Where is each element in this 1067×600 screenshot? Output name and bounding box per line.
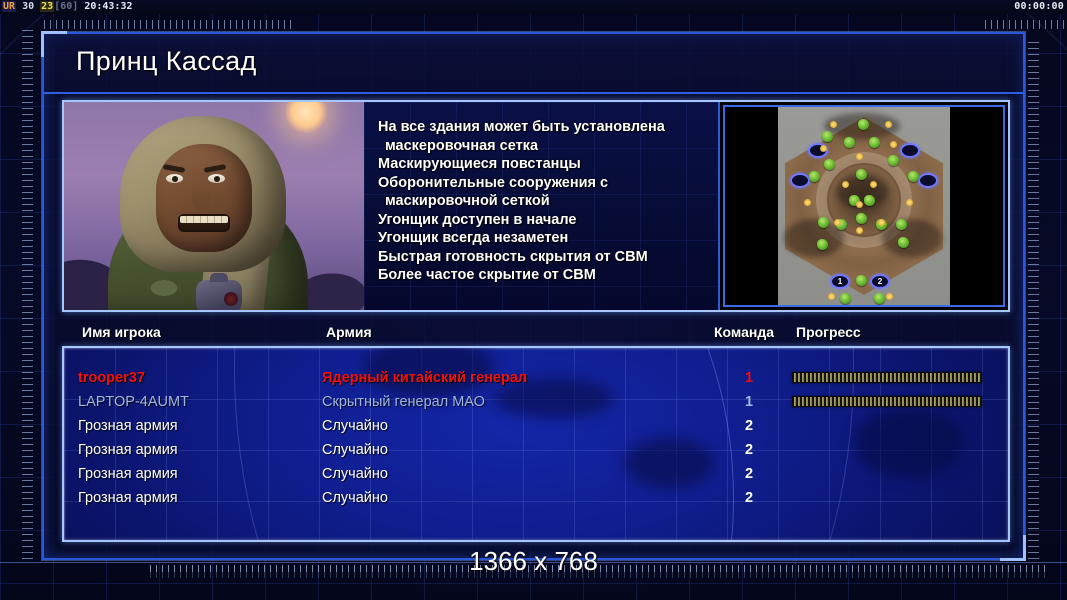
status-fps-bracket: [60] xyxy=(54,1,78,12)
minimap-marker xyxy=(856,201,863,208)
status-label: UR xyxy=(2,1,16,12)
minimap-resource xyxy=(896,219,907,230)
minimap-resource xyxy=(822,131,833,142)
ability-item: Угонщик всегда незаметен xyxy=(378,229,710,248)
cell-player-name: LAPTOP-4AUMT xyxy=(78,390,189,414)
soldier-eye-left xyxy=(166,174,183,183)
table-row[interactable]: Грозная армия Случайно 2 xyxy=(64,486,1008,510)
ability-item: Быстрая готовность скрытия от СВМ xyxy=(378,248,710,267)
minimap-marker xyxy=(906,199,913,206)
general-abilities-panel: На все здания может быть установлена мас… xyxy=(364,102,718,310)
kettle-prop xyxy=(196,280,242,310)
player-table-header: Имя игрока Армия Команда Прогресс xyxy=(68,324,1012,346)
minimap-start-position[interactable] xyxy=(790,173,810,188)
minimap-resource xyxy=(858,119,869,130)
window-content: На все здания может быть установлена мас… xyxy=(56,100,1015,548)
game-screen: UR 30 23[60] 20:43:32 00:00:00 Принц Кас… xyxy=(0,0,1067,600)
cell-player-name: Грозная армия xyxy=(78,462,178,486)
table-row[interactable]: Грозная армия Случайно 2 xyxy=(64,462,1008,486)
minimap-start-position-1[interactable]: 1 xyxy=(830,274,850,289)
cell-army: Ядерный китайский генерал xyxy=(322,366,527,390)
sun-icon xyxy=(284,102,328,134)
minimap-resource xyxy=(864,195,875,206)
minimap-marker xyxy=(842,181,849,188)
cell-army: Случайно xyxy=(322,486,388,510)
table-row[interactable]: trooper37 Ядерный китайский генерал 1 xyxy=(64,366,1008,390)
cell-player-name: trooper37 xyxy=(78,366,145,390)
column-header-team: Команда xyxy=(714,324,774,340)
status-fps: 30 xyxy=(22,1,34,12)
cell-player-name: Грозная армия xyxy=(78,486,178,510)
column-header-progress: Прогресс xyxy=(796,324,861,340)
minimap-start-position[interactable] xyxy=(918,173,938,188)
ability-item: маскировочной сеткой xyxy=(378,192,710,211)
minimap-resource xyxy=(908,171,919,182)
general-portrait xyxy=(64,102,364,310)
ability-item: Угонщик доступен в начале xyxy=(378,211,710,230)
cell-team: 2 xyxy=(735,486,763,510)
cell-team: 2 xyxy=(735,414,763,438)
progress-bar xyxy=(792,396,982,407)
minimap-resource xyxy=(817,239,828,250)
cell-team: 1 xyxy=(735,390,763,414)
minimap-marker xyxy=(804,199,811,206)
briefing-panel: На все здания может быть установлена мас… xyxy=(62,100,1010,312)
ability-item: Более частое скрытие от СВМ xyxy=(378,266,710,285)
ability-item: маскеровочная сетка xyxy=(378,137,710,156)
cell-army: Случайно xyxy=(322,438,388,462)
minimap-resource xyxy=(856,169,867,180)
minimap-shadow xyxy=(882,219,942,257)
minimap-terrain: 1 2 xyxy=(778,107,950,305)
minimap-marker xyxy=(856,153,863,160)
minimap-marker xyxy=(830,121,837,128)
minimap: 1 2 xyxy=(723,105,1005,307)
soldier-brow-left xyxy=(163,164,186,173)
minimap-marker xyxy=(886,293,893,300)
resolution-label: 1366 x 768 xyxy=(0,546,1067,577)
minimap-marker xyxy=(834,219,841,226)
window-titlebar: Принц Кассад xyxy=(44,34,1023,94)
cell-progress xyxy=(792,396,982,407)
minimap-container: 1 2 xyxy=(718,102,1008,310)
minimap-start-position-2[interactable]: 2 xyxy=(870,274,890,289)
ruler-top-right xyxy=(985,20,1065,29)
status-clock: 20:43:32 xyxy=(84,1,132,12)
cell-player-name: Грозная армия xyxy=(78,438,178,462)
cell-team: 1 xyxy=(735,366,763,390)
minimap-marker xyxy=(856,227,863,234)
progress-bar xyxy=(792,372,982,383)
minimap-resource xyxy=(856,275,867,286)
table-row[interactable]: LAPTOP-4AUMT Скрытный генерал МАО 1 xyxy=(64,390,1008,414)
minimap-marker xyxy=(820,145,827,152)
minimap-resource xyxy=(818,217,829,228)
minimap-marker xyxy=(828,293,835,300)
table-row[interactable]: Грозная армия Случайно 2 xyxy=(64,414,1008,438)
soldier-teeth xyxy=(180,216,228,223)
minimap-resource xyxy=(844,137,855,148)
cell-army: Случайно xyxy=(322,414,388,438)
cell-player-name: Грозная армия xyxy=(78,414,178,438)
soldier-nose xyxy=(192,186,210,210)
minimap-resource xyxy=(840,293,851,304)
minimap-resource xyxy=(874,293,885,304)
cell-team: 2 xyxy=(735,462,763,486)
soldier-face xyxy=(156,144,252,252)
cell-army: Скрытный генерал МАО xyxy=(322,390,485,414)
soldier-mouth xyxy=(178,214,230,232)
minimap-marker xyxy=(870,181,877,188)
minimap-resource xyxy=(824,159,835,170)
ability-item: Маскирующиеся повстанцы xyxy=(378,155,710,174)
minimap-resource xyxy=(869,137,880,148)
minimap-start-position[interactable] xyxy=(900,143,920,158)
ruler-right xyxy=(1028,42,1039,562)
column-header-player: Имя игрока xyxy=(82,324,161,340)
minimap-marker xyxy=(885,121,892,128)
minimap-resource xyxy=(856,213,867,224)
status-bar-left: UR 30 23[60] 20:43:32 xyxy=(2,0,133,14)
ruler-top xyxy=(44,20,294,29)
loading-window: Принц Кассад xyxy=(42,32,1025,560)
status-bar: UR 30 23[60] 20:43:32 00:00:00 xyxy=(0,0,1067,14)
page-title: Принц Кассад xyxy=(76,46,257,77)
soldier-brow-right xyxy=(204,164,227,173)
minimap-resource xyxy=(898,237,909,248)
soldier-eye-right xyxy=(208,174,225,183)
player-table: trooper37 Ядерный китайский генерал 1 LA… xyxy=(62,346,1010,542)
minimap-marker xyxy=(878,219,885,226)
minimap-resource xyxy=(809,171,820,182)
ruler-left xyxy=(22,30,33,560)
cell-team: 2 xyxy=(735,438,763,462)
status-fps-highlight: 23 xyxy=(40,1,54,12)
cell-army: Случайно xyxy=(322,462,388,486)
ability-item: Оборонительные сооружения с xyxy=(378,174,710,193)
status-timer: 00:00:00 xyxy=(1014,0,1064,14)
cell-progress xyxy=(792,372,982,383)
minimap-resource xyxy=(888,155,899,166)
column-header-army: Армия xyxy=(326,324,372,340)
table-row[interactable]: Грозная армия Случайно 2 xyxy=(64,438,1008,462)
minimap-marker xyxy=(890,141,897,148)
ability-item: На все здания может быть установлена xyxy=(378,118,710,137)
general-abilities-list: На все здания может быть установлена мас… xyxy=(378,118,710,285)
